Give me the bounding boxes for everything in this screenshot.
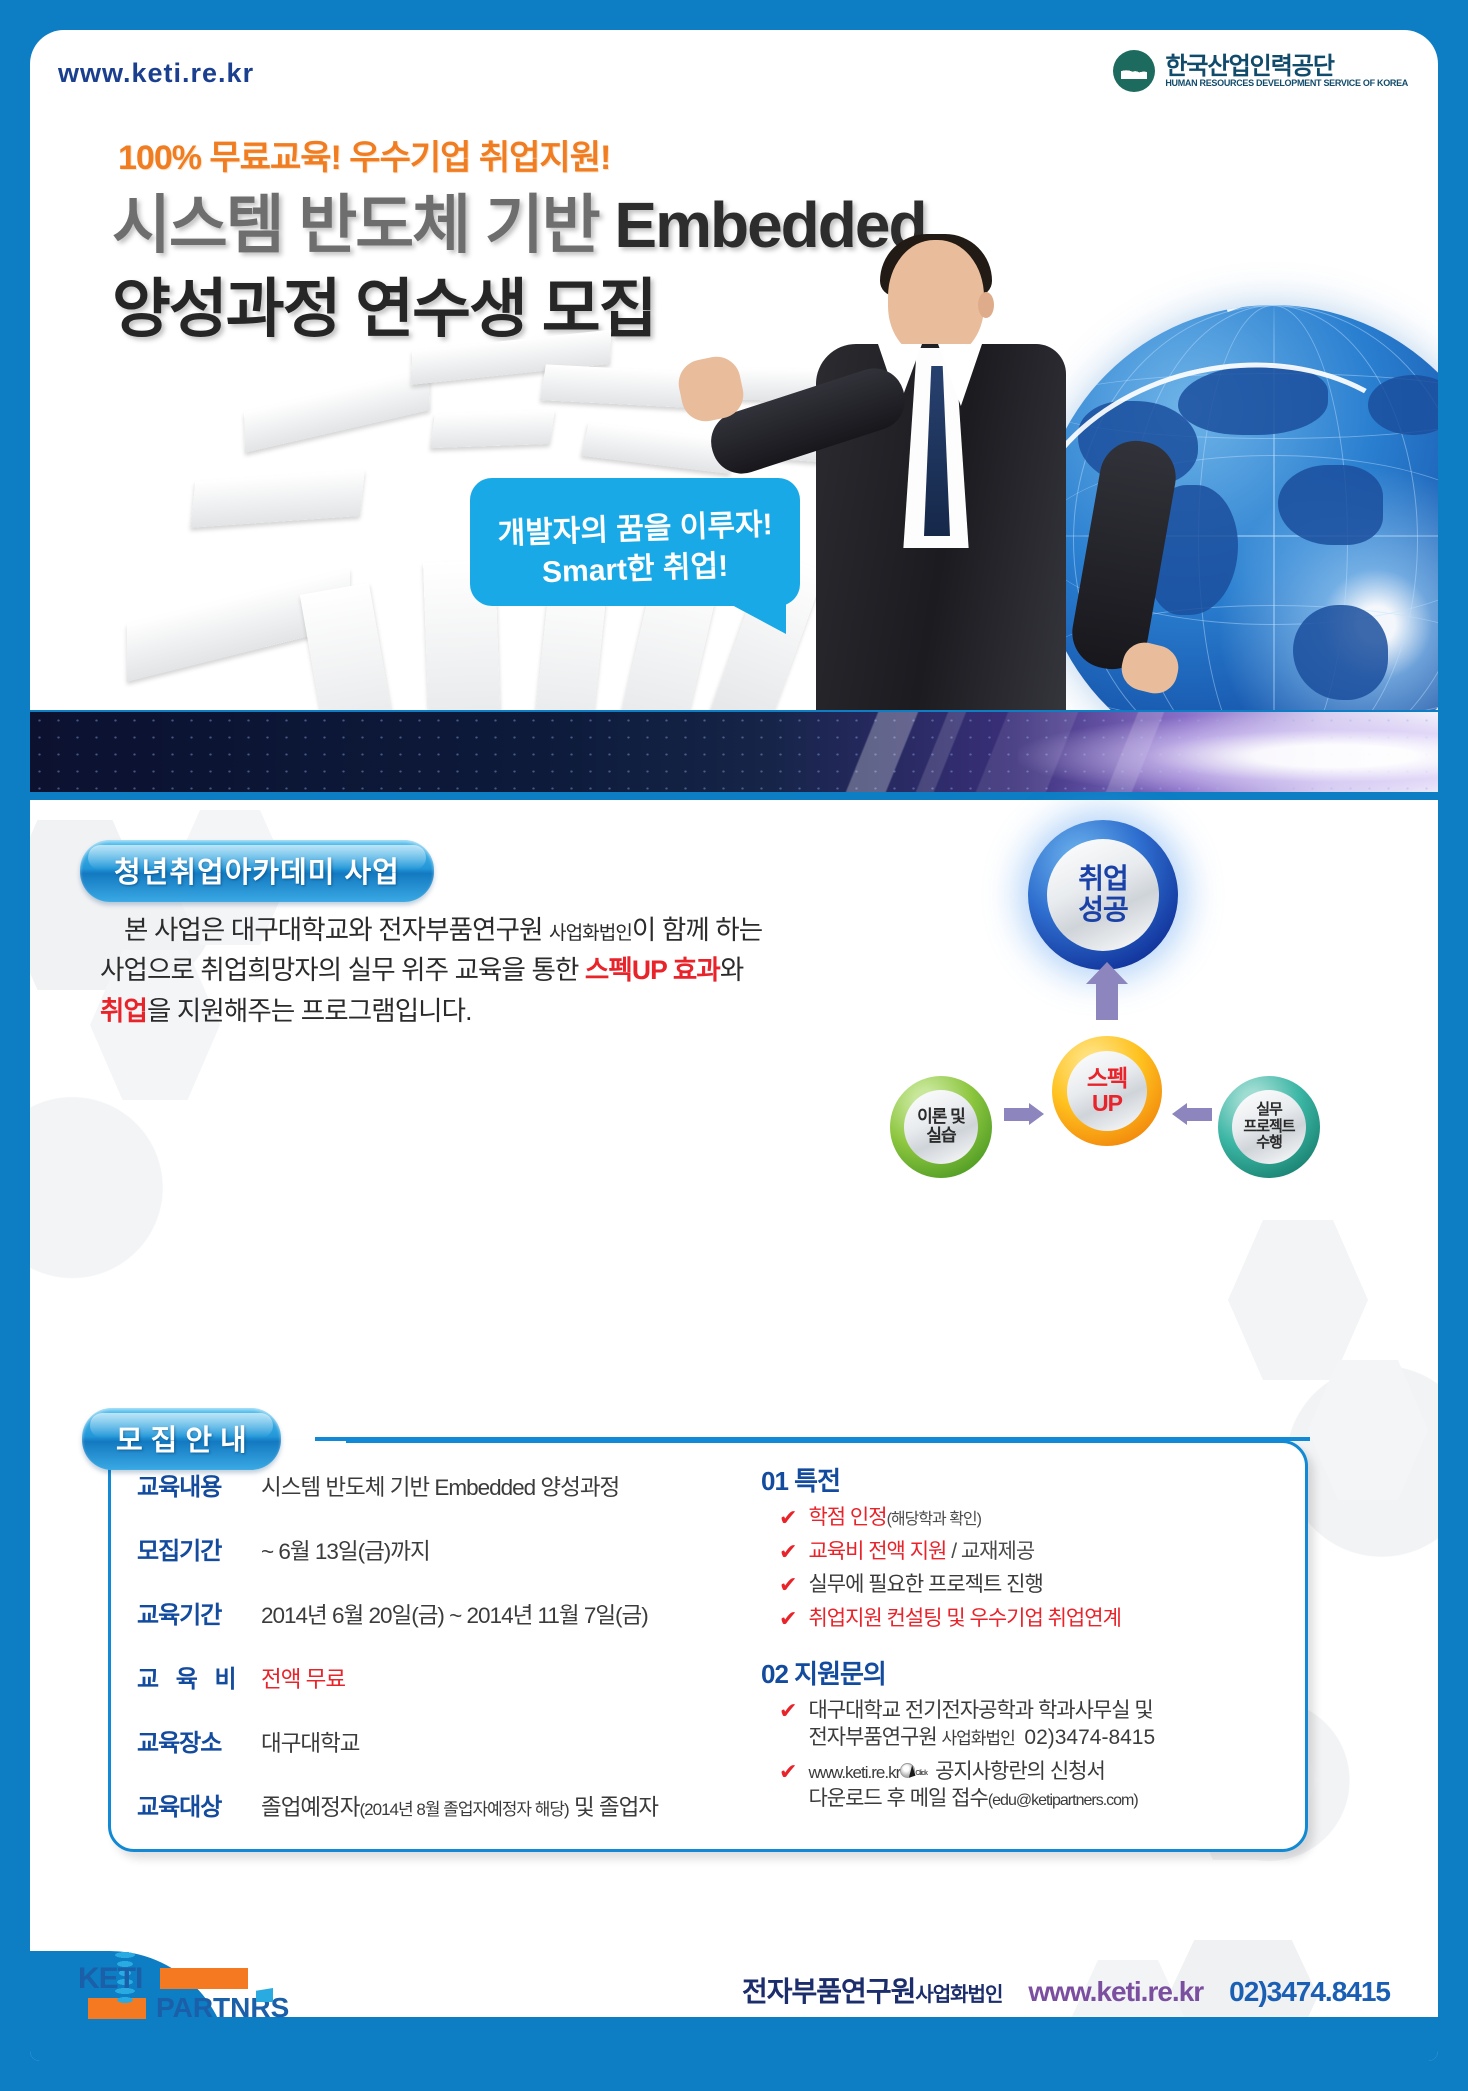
recruitment-info-box: 교육내용 시스템 반도체 기반 Embedded 양성과정 모집기간 ~ 6월 … <box>108 1440 1308 1852</box>
hero-title-line1-korean: 시스템 반도체 기반 <box>112 189 614 261</box>
success-line2: 성공 <box>1078 894 1128 925</box>
info-row: 교 육 비 전액 무료 <box>137 1659 737 1694</box>
footer-blue-strip <box>130 2017 1438 2061</box>
check-icon: ✔ <box>779 1758 797 1786</box>
benefit-note: (해당학과 확인) <box>887 1511 981 1528</box>
info-row-value: ~ 6월 13일(금)까지 <box>261 1534 430 1566</box>
info-row-label: 교육장소 <box>137 1723 261 1758</box>
info-row-value: 전액 무료 <box>261 1662 345 1694</box>
circle-spec-up: 스펙 UP <box>1052 1036 1162 1146</box>
face <box>888 240 984 358</box>
circle-employment-success: 취업 성공 <box>1028 820 1178 970</box>
theory-line2: 실습 <box>926 1126 955 1145</box>
check-icon: ✔ <box>779 1571 797 1599</box>
info-row-label: 교 육 비 <box>137 1659 261 1694</box>
hrd-korea-name-en: HUMAN RESOURCES DEVELOPMENT SERVICE OF K… <box>1165 79 1408 88</box>
hero-website-url[interactable]: www.keti.re.kr <box>58 58 254 89</box>
project-line3: 수행 <box>1256 1134 1282 1151</box>
footer-website[interactable]: www.keti.re.kr <box>1028 1976 1203 2008</box>
circle-theory-practice: 이론 및 실습 <box>890 1076 992 1178</box>
footer-phone[interactable]: 02)3474.8415 <box>1229 1976 1390 2008</box>
footer-contact-info: 전자부품연구원사업화법인 www.keti.re.kr 02)3474.8415 <box>742 1970 1390 2010</box>
contact-org-note: 사업화법인 <box>942 1729 1015 1748</box>
contact-notice: 공지사항란의 신청서 <box>935 1760 1105 1783</box>
info-row-value: 2014년 6월 20일(금) ~ 2014년 11월 7일(금) <box>261 1598 648 1630</box>
footer-org-note: 사업화법인 <box>915 1984 1002 2006</box>
partners-e-flag-icon <box>256 1988 273 2002</box>
project-line2: 프로젝트 <box>1243 1118 1294 1135</box>
contact-org: 전자부품연구원 <box>808 1726 941 1749</box>
keti-partners-logo: KETI PARTNRS <box>78 1962 288 2024</box>
hrd-korea-logo: 한국산업인력공단 HUMAN RESOURCES DEVELOPMENT SER… <box>1113 50 1408 92</box>
partners-part1: PARTN <box>156 1992 250 2023</box>
ear <box>978 292 994 318</box>
contact-title: 02 지원문의 <box>761 1654 1291 1691</box>
footer-org-name: 전자부품연구원 <box>742 1976 915 2007</box>
businessman-illustration <box>738 240 1138 710</box>
info-column-right: 01 특전 ✔ 학점 인정(해당학과 확인) ✔ 교육비 전액 지원 / 교재제… <box>761 1461 1291 1834</box>
notice-badge: 모집안내 <box>82 1408 281 1470</box>
contact-website[interactable]: www.keti.re.kr <box>808 1763 900 1782</box>
contact-download: 다운로드 후 메일 접수 <box>808 1787 987 1810</box>
benefit-gray: / 교재제공 <box>946 1540 1034 1563</box>
academy-intro-text: 본 사업은 대구대학교와 전자부품연구원 사업화법인이 함께 하는 사업으로 취… <box>100 910 800 1031</box>
contact-list: ✔ 대구대학교 전기전자공학과 학과사무실 및 전자부품연구원 사업화법인 02… <box>779 1697 1291 1812</box>
info-rows-left: 교육내용 시스템 반도체 기반 Embedded 양성과정 모집기간 ~ 6월 … <box>137 1467 737 1851</box>
info-row: 교육내용 시스템 반도체 기반 Embedded 양성과정 <box>137 1467 737 1502</box>
benefit-red: 학점 인정 <box>808 1506 886 1529</box>
info-row: 모집기간 ~ 6월 13일(금)까지 <box>137 1531 737 1566</box>
info-row-label: 교육기간 <box>137 1595 261 1630</box>
target-note: (2014년 8월 졸업자예정자 해당) <box>360 1800 569 1819</box>
arrow-left-icon <box>1186 1108 1212 1121</box>
benefit-item: ✔ 학점 인정(해당학과 확인) <box>779 1504 1291 1532</box>
info-row-label: 모집기간 <box>137 1531 261 1566</box>
intro-highlight-specup: 스펙UP 효과 <box>585 955 720 985</box>
hrd-korea-mark-icon <box>1113 50 1155 92</box>
hero-panel: www.keti.re.kr 한국산업인력공단 HUMAN RESOURCES … <box>30 30 1438 710</box>
notice-divider-line <box>315 1437 1310 1441</box>
contact-phone[interactable]: 02)3474-8415 <box>1024 1726 1155 1749</box>
check-icon: ✔ <box>779 1538 797 1566</box>
contact-text: www.keti.re.krClick 공지사항란의 신청서 다운로드 후 메일… <box>808 1758 1137 1813</box>
arrow-right-icon <box>1004 1108 1030 1121</box>
circle-field-project: 실무 프로젝트 수행 <box>1218 1076 1320 1178</box>
process-diagram: 취업 성공 스펙 UP 이론 및 실습 실무 프로젝트 <box>900 820 1320 1160</box>
benefit-item: ✔ 실무에 필요한 프로젝트 진행 <box>779 1571 1291 1599</box>
check-icon: ✔ <box>779 1697 797 1725</box>
benefits-list: ✔ 학점 인정(해당학과 확인) ✔ 교육비 전액 지원 / 교재제공 ✔ 실무… <box>779 1504 1291 1632</box>
benefits-title: 01 특전 <box>761 1461 1291 1498</box>
benefit-item: ✔ 교육비 전액 지원 / 교재제공 <box>779 1538 1291 1566</box>
arrow-up-icon <box>1096 982 1118 1020</box>
intro-highlight-employment: 취업 <box>100 996 147 1026</box>
banner-light-glow <box>1018 712 1438 792</box>
spec-line2: UP <box>1092 1090 1122 1116</box>
check-icon: ✔ <box>779 1504 797 1532</box>
benefit-red: 교육비 전액 지원 <box>808 1540 946 1563</box>
contact-item: ✔ 대구대학교 전기전자공학과 학과사무실 및 전자부품연구원 사업화법인 02… <box>779 1697 1291 1752</box>
speech-bubble: 개발자의 꿈을 이루자! Smart한 취업! <box>470 478 800 606</box>
success-line1: 취업 <box>1078 863 1128 894</box>
check-icon: ✔ <box>779 1605 797 1633</box>
poster-root: www.keti.re.kr 한국산업인력공단 HUMAN RESOURCES … <box>0 0 1468 2091</box>
hero-kicker: 100% 무료교육! 우수기업 취업지원! <box>118 130 610 179</box>
hrd-korea-name-ko: 한국산업인력공단 <box>1165 54 1408 79</box>
info-row-value: 대구대학교 <box>261 1726 360 1758</box>
intro-part3: 사업으로 취업희망자의 실무 위주 교육을 통한 <box>100 955 585 985</box>
keti-wordmark: KETI <box>78 1962 142 1996</box>
mouse-click-icon: Click <box>900 1765 930 1780</box>
info-row-value: 졸업예정자(2014년 8월 졸업자예정자 해당) 및 졸업자 <box>261 1790 658 1822</box>
spec-line1: 스펙 <box>1087 1065 1127 1091</box>
info-row: 교육기간 2014년 6월 20일(금) ~ 2014년 11월 7일(금) <box>137 1595 737 1630</box>
info-row-value: 시스템 반도체 기반 Embedded 양성과정 <box>261 1470 619 1502</box>
project-line1: 실무 <box>1256 1101 1282 1118</box>
intro-part5: 을 지원해주는 프로그램입니다. <box>147 996 472 1026</box>
academy-badge: 청년취업아카데미 사업 <box>80 840 434 902</box>
contact-text: 대구대학교 전기전자공학과 학과사무실 및 전자부품연구원 사업화법인 02)3… <box>808 1697 1155 1752</box>
info-row: 교육장소 대구대학교 <box>137 1723 737 1758</box>
intro-part2: 이 함께 하는 <box>632 915 762 945</box>
contact-dept: 대구대학교 전기전자공학과 학과사무실 및 <box>808 1699 1152 1722</box>
info-row-label: 교육내용 <box>137 1467 261 1502</box>
benefit-text: 학점 인정(해당학과 확인) <box>808 1504 981 1531</box>
logo-bar-top <box>160 1968 248 1989</box>
intro-small-corp1: 사업화법인 <box>549 923 632 944</box>
benefit-text: 취업지원 컨설팅 및 우수기업 취업연계 <box>808 1605 1120 1632</box>
click-label: Click <box>915 1769 927 1778</box>
benefit-text: 실무에 필요한 프로젝트 진행 <box>808 1571 1042 1598</box>
intro-part4: 와 <box>720 955 743 985</box>
contact-item: ✔ www.keti.re.krClick 공지사항란의 신청서 다운로드 후 … <box>779 1758 1291 1813</box>
intro-part1: 본 사업은 대구대학교와 전자부품연구원 <box>124 915 549 945</box>
info-row-target: 교육대상 졸업예정자(2014년 8월 졸업자예정자 해당) 및 졸업자 <box>137 1787 737 1822</box>
benefit-item: ✔ 취업지원 컨설팅 및 우수기업 취업연계 <box>779 1605 1291 1633</box>
tech-banner-strip <box>30 712 1438 792</box>
footer: KETI PARTNRS 전자부품연구원사업화법인 www.keti.re.kr… <box>30 1940 1438 2061</box>
target-tail: 및 졸업자 <box>569 1795 658 1820</box>
footer-org: 전자부품연구원사업화법인 <box>742 1970 1002 2010</box>
benefit-text: 교육비 전액 지원 / 교재제공 <box>808 1538 1034 1565</box>
info-row-label: 교육대상 <box>137 1787 261 1822</box>
target-main: 졸업예정자 <box>261 1795 360 1820</box>
theory-line1: 이론 및 <box>917 1107 965 1126</box>
contact-email[interactable]: (edu@ketipartners.com) <box>988 1792 1138 1809</box>
